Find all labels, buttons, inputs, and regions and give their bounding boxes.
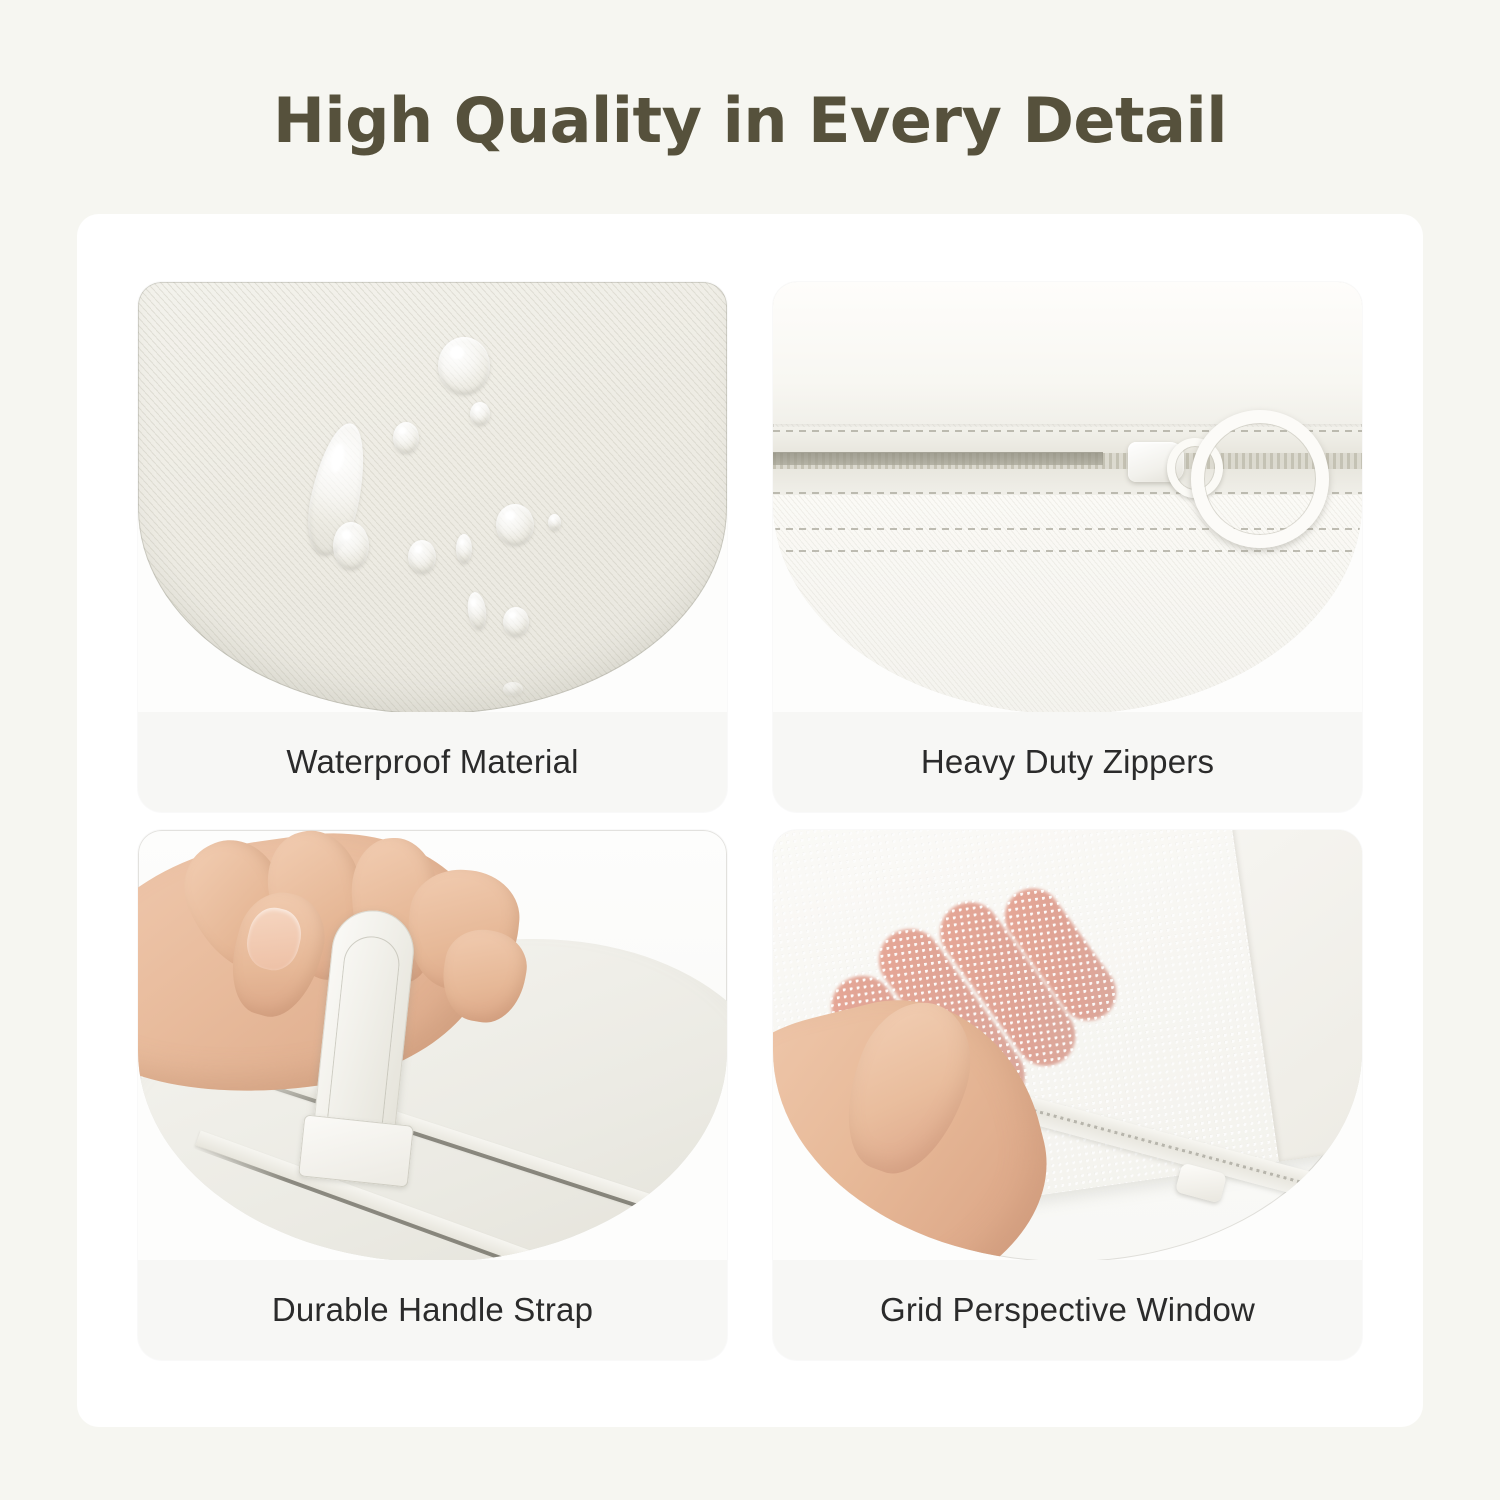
mesh-window-scene (773, 830, 1362, 1260)
bag-fabric (773, 282, 1362, 712)
water-droplet-icon (496, 504, 534, 546)
zipper-ring-pull (1191, 410, 1329, 548)
water-droplet-icon (503, 607, 529, 637)
feature-tile-heavy-duty-zippers[interactable]: Heavy Duty Zippers (773, 282, 1362, 812)
feature-grid: Waterproof Material (138, 282, 1362, 1360)
water-droplet-icon (465, 591, 488, 631)
infographic-page: High Quality in Every Detail (0, 0, 1500, 1500)
feature-caption-waterproof-material: Waterproof Material (138, 712, 727, 812)
strap-stitching (326, 934, 403, 1139)
twill-fabric-swatch (138, 282, 727, 712)
feature-caption-heavy-duty-zippers: Heavy Duty Zippers (773, 712, 1362, 812)
water-droplet-icon (503, 682, 523, 696)
waterproof-material-image (138, 282, 727, 712)
water-droplet-icon (470, 402, 490, 426)
zipper-scene (773, 282, 1362, 712)
feature-caption-durable-handle-strap: Durable Handle Strap (138, 1260, 727, 1360)
feature-tile-durable-handle-strap[interactable]: Durable Handle Strap (138, 830, 727, 1360)
strap-anchor-patch (298, 1114, 414, 1187)
feature-tile-waterproof-material[interactable]: Waterproof Material (138, 282, 727, 812)
upper-fabric-flap (773, 282, 1362, 424)
page-title: High Quality in Every Detail (0, 84, 1500, 157)
water-droplet-icon (548, 514, 561, 531)
stitch-line (773, 550, 1362, 552)
feature-tile-grid-perspective-window[interactable]: Grid Perspective Window (773, 830, 1362, 1360)
water-droplet-icon (393, 422, 419, 454)
durable-handle-strap-image (138, 830, 727, 1260)
grid-perspective-window-image (773, 830, 1362, 1260)
water-droplet-icon (333, 522, 369, 570)
feature-card: Waterproof Material (77, 214, 1423, 1427)
feature-caption-grid-perspective-window: Grid Perspective Window (773, 1260, 1362, 1360)
water-droplet-icon (456, 534, 472, 564)
zipper-open-gap (773, 452, 1103, 465)
heavy-duty-zippers-image (773, 282, 1362, 712)
water-droplet-icon (438, 337, 490, 395)
water-droplet-icon (408, 540, 436, 574)
handle-scene (138, 830, 727, 1260)
water-droplet-icon (299, 418, 374, 560)
